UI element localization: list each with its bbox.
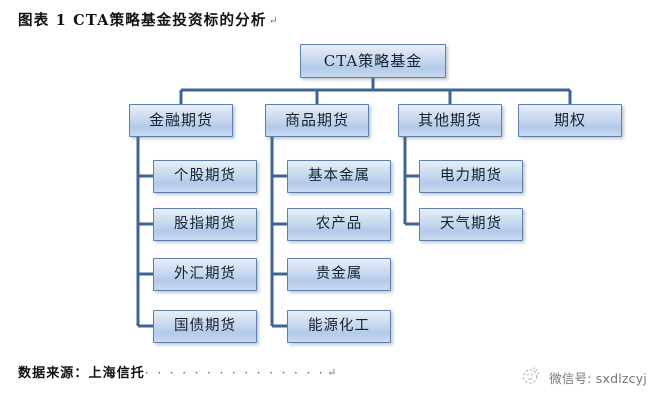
node-agricultural-products[interactable]: 农产品: [287, 208, 391, 241]
figure-title-text: 图表 1 CTA策略基金投资标的分析: [18, 12, 267, 29]
figure-source-text: 数据来源：上海信托: [18, 366, 145, 381]
node-label: 能源化工: [308, 319, 370, 334]
node-commodity-futures[interactable]: 商品期货: [265, 104, 369, 137]
leader-dots: · · · · · · · · · · · · · · ·: [145, 366, 325, 380]
node-weather-futures[interactable]: 天气期货: [419, 208, 523, 241]
figure-source: 数据来源：上海信托· · · · · · · · · · · · · · ·↵: [18, 362, 336, 381]
node-base-metals[interactable]: 基本金属: [287, 160, 391, 193]
node-fx-futures[interactable]: 外汇期货: [153, 258, 257, 291]
node-label: 国债期货: [174, 319, 236, 334]
paragraph-mark-icon: ↵: [327, 366, 336, 379]
node-other-futures[interactable]: 其他期货: [398, 104, 502, 137]
watermark: 微信号: sxdlzcyj: [520, 366, 647, 388]
node-label: 金融期货: [149, 113, 213, 128]
watermark-text: 微信号: sxdlzcyj: [549, 368, 647, 387]
paragraph-mark-icon: ↵: [269, 14, 278, 27]
node-treasury-futures[interactable]: 国债期货: [153, 310, 257, 343]
node-label: 基本金属: [308, 169, 370, 184]
node-precious-metals[interactable]: 贵金属: [287, 258, 391, 291]
node-label: 个股期货: [174, 169, 236, 184]
node-single-stock-futures[interactable]: 个股期货: [153, 160, 257, 193]
node-label: 外汇期货: [174, 267, 236, 282]
node-label: 天气期货: [440, 217, 502, 232]
node-power-futures[interactable]: 电力期货: [419, 160, 523, 193]
node-label: 期权: [554, 113, 586, 128]
figure-canvas: 图表 1 CTA策略基金投资标的分析↵: [0, 0, 661, 405]
node-label: CTA策略基金: [324, 54, 423, 69]
node-stock-index-futures[interactable]: 股指期货: [153, 208, 257, 241]
node-financial-futures[interactable]: 金融期货: [129, 104, 233, 137]
node-label: 农产品: [316, 217, 363, 232]
node-cta-strategy-fund[interactable]: CTA策略基金: [300, 44, 446, 78]
node-options[interactable]: 期权: [518, 104, 622, 137]
node-energy-chemicals[interactable]: 能源化工: [287, 310, 391, 343]
node-label: 贵金属: [316, 267, 363, 282]
node-label: 电力期货: [440, 169, 502, 184]
node-label: 股指期货: [174, 217, 236, 232]
node-label: 商品期货: [285, 113, 349, 128]
node-label: 其他期货: [418, 113, 482, 128]
figure-title: 图表 1 CTA策略基金投资标的分析↵: [18, 9, 278, 30]
wechat-logo-icon: [520, 366, 542, 388]
